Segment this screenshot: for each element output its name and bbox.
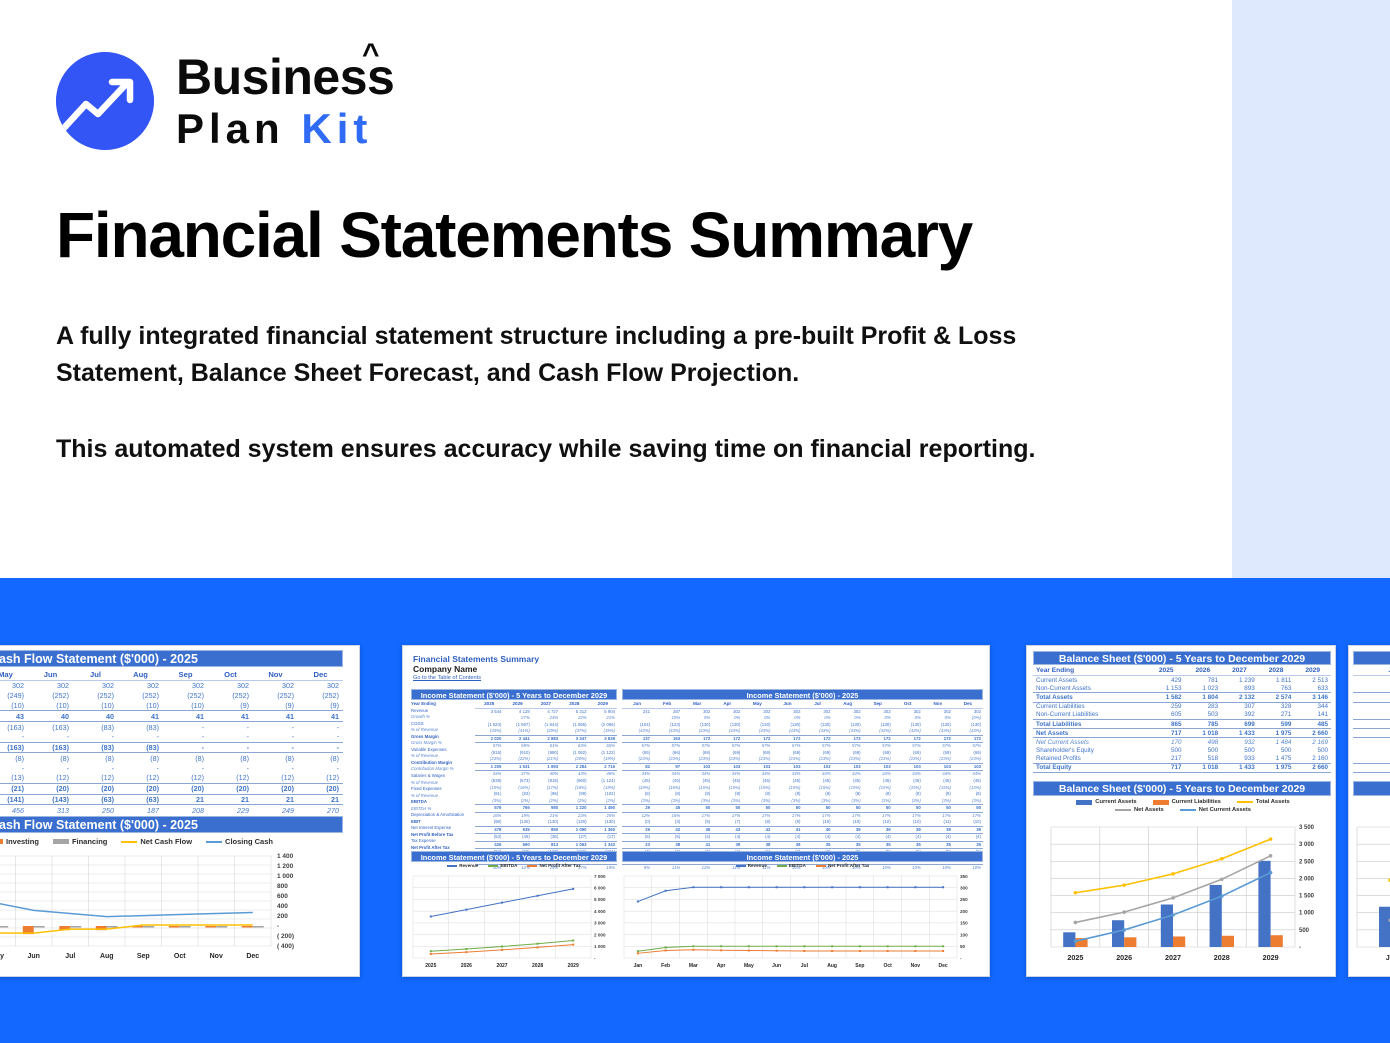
table-row: 1 081 [1353, 738, 1390, 747]
table-row: 512 [1353, 763, 1390, 772]
svg-text:-: - [277, 923, 279, 930]
svg-text:Oct: Oct [883, 963, 892, 969]
brand-name-kit: Kit [301, 105, 372, 152]
legend-item: Investing [0, 837, 39, 846]
summary-sheet-title: Financial Statements Summary [413, 654, 539, 664]
hero-side-panel [1232, 0, 1390, 578]
table-row: (13)(12)(12)(12)(12)(12)(12)(12) [0, 773, 343, 783]
table-row: Total Equity7171 0181 4331 9752 660 [1033, 763, 1331, 772]
svg-text:3 000: 3 000 [594, 921, 606, 926]
legend-item: Current Liabilities [1153, 799, 1221, 805]
income-year-col-2026: 2026 [503, 701, 531, 708]
table-row: 12%16%17%17%17%17%17%17%17%17%17%17% [622, 812, 983, 819]
cashflow-col-jun: Jun [28, 669, 73, 681]
balance-partial-chart: Jan [1353, 821, 1390, 969]
svg-text:May: May [0, 953, 4, 960]
balance-row-label: Total Equity [1033, 763, 1148, 772]
income-year-col-2029: 2029 [589, 701, 617, 708]
table-row: 512 [1353, 729, 1390, 738]
balance-year-col-2028: 2028 [1258, 666, 1295, 676]
balance-row-label: Total Assets [1033, 693, 1148, 702]
table-row: Total Liabilities865785699599485 [1033, 719, 1331, 728]
svg-text:7 000: 7 000 [594, 874, 606, 879]
table-row: Net Current Assets1704989321 4842 169 [1033, 738, 1331, 747]
brand-caret-accent: ^ [362, 40, 379, 70]
svg-text:3 000: 3 000 [1299, 842, 1315, 848]
table-row: 12 [1353, 755, 1390, 764]
legend-swatch [1076, 800, 1092, 805]
legend-swatch [1153, 800, 1169, 805]
balance-partial-col-header: Jan [1353, 666, 1390, 676]
table-row: 2 0202 4412 8833 3473 838 [475, 735, 617, 743]
svg-text:200: 200 [960, 909, 968, 914]
hero-paragraph-2: This automated system ensures accuracy w… [56, 431, 1146, 468]
growth-arrow-circle-icon [56, 52, 154, 150]
balance-sheet-screenshot-card[interactable]: Balance Sheet ($'000) - 5 Years to Decem… [1026, 645, 1336, 977]
slide-page: Business^ Plan Kit Financial Statements … [0, 0, 1390, 1043]
table-row: 1 174 [1353, 676, 1390, 685]
table-row: Shareholder's Equity500500500500500 [1033, 747, 1331, 755]
svg-text:1 400: 1 400 [277, 853, 294, 860]
svg-text:6 000: 6 000 [594, 886, 606, 891]
svg-text:Dec: Dec [939, 963, 948, 969]
table-row: (23%)(23%)(23%)(23%)(23%)(23%)(23%)(23%)… [622, 756, 983, 763]
svg-text:1 500: 1 500 [1299, 894, 1315, 900]
table-row: (23%)(22%)(21%)(20%)(19%) [475, 756, 617, 763]
table-row: (10)(10)(10)(10)(10)(9)(9)(9) [0, 701, 343, 711]
balance-row-label: Retained Profits [1033, 755, 1148, 764]
legend-item: EBITDA [777, 863, 806, 868]
table-row: Retained Profits2175189331 4752 160 [1033, 755, 1331, 764]
svg-text:2027: 2027 [1165, 953, 1181, 962]
table-row: -------- [0, 763, 343, 773]
svg-text:( 200): ( 200) [277, 933, 294, 940]
legend-swatch [1115, 809, 1131, 811]
svg-text:Jul: Jul [801, 963, 809, 969]
balance-row-label: Non-Current Assets [1033, 684, 1148, 693]
table-row: Total Assets1 5821 8042 1322 5743 146 [1033, 693, 1331, 702]
balance-table-title: Balance Sheet ($'000) - 5 Years to Decem… [1033, 651, 1331, 665]
legend-item: EBITDA [488, 863, 517, 868]
balance-row-label: Current Assets [1033, 676, 1148, 685]
income-month-col-dec: Dec [953, 701, 983, 708]
balance-sheet-partial-card[interactable]: Jan1 1741241 297936927865121 08150012512… [1348, 645, 1390, 977]
balance-row-label: Net Assets [1033, 729, 1148, 738]
svg-text:Aug: Aug [100, 953, 114, 960]
svg-text:1 000: 1 000 [594, 944, 606, 949]
summary-company-name: Company Name [413, 664, 477, 674]
balance-chart-title: Balance Sheet ($'000) - 5 Years to Decem… [1033, 781, 1331, 796]
svg-text:800: 800 [277, 883, 288, 890]
cashflow-col-nov: Nov [253, 669, 298, 681]
table-row: 57%57%57%57%57%57%57%57%57%57%57%57% [622, 743, 983, 750]
svg-text:Nov: Nov [210, 953, 223, 960]
balance-partial-chart-title [1353, 781, 1390, 796]
income-5y-chart-title: Income Statement ($'000) - 5 Years to De… [411, 851, 617, 862]
table-row: 1 2051 5311 8932 2842 716 [475, 763, 617, 771]
table-row: 16%19%21%23%25% [475, 812, 617, 819]
legend-item: Net Profit After Tax [527, 863, 580, 868]
legend-swatch [527, 865, 537, 867]
table-row: 137163172172172172172172172172172172 [622, 735, 983, 743]
balance-row-label: Current Liabilities [1033, 702, 1148, 711]
income-5y-table: 202520262027202820293 5444 1284 7275 312… [475, 701, 617, 871]
income-monthly-table: JanFebMarAprMayJunJulAugSepOctNovDec2412… [622, 701, 983, 871]
svg-text:Sep: Sep [855, 963, 864, 969]
legend-swatch [736, 865, 746, 867]
legend-swatch [206, 841, 222, 843]
income-monthly-chart-legend: RevenueEBITDANet Profit After Tax [622, 863, 983, 868]
table-row: (8)(8)(8)(8)(8)(8)(8)(8) [0, 753, 343, 763]
balance-header-label: Year Ending [1033, 666, 1148, 676]
table-row: (43%)(43%)(43%)(43%)(43%)(43%)(43%)(43%)… [622, 728, 983, 735]
svg-text:-: - [594, 956, 596, 961]
svg-text:2025: 2025 [425, 963, 436, 969]
svg-text:4 000: 4 000 [594, 909, 606, 914]
brand-name-plan: Plan [176, 105, 285, 152]
income-5y-chart-legend: RevenueEBITDANet Profit After Tax [411, 863, 617, 868]
income-monthly-title: Income Statement ($'000) - 2025 [622, 689, 983, 700]
svg-text:2 500: 2 500 [1299, 859, 1315, 865]
cashflow-table-title: Cash Flow Statement ($'000) - 2025 [0, 650, 343, 667]
table-row: Current Assets4297811 2391 8112 513 [1033, 676, 1331, 685]
table-row: (163)(163)(83)(83)---- [0, 742, 343, 753]
svg-text:-: - [1299, 945, 1301, 951]
legend-item: Revenue [447, 863, 478, 868]
table-row: 692 [1353, 711, 1390, 720]
table-row: 233841393836353535353535 [622, 841, 983, 849]
cashflow-col-may: May [0, 669, 28, 681]
table-row: 57%59%61%63%65% [475, 743, 617, 750]
table-row: 294245434241403939393939 [622, 826, 983, 834]
svg-text:2 000: 2 000 [1299, 876, 1315, 882]
svg-text:( 400): ( 400) [277, 943, 294, 950]
table-row: (0)(3)(5)(7)(8)(9)(10)(10)(10)(10)(11)(1… [622, 819, 983, 826]
income-month-col-jul: Jul [802, 701, 832, 708]
table-row: 1 297 [1353, 693, 1390, 702]
svg-text:Jan: Jan [1386, 953, 1390, 962]
svg-text:200: 200 [277, 913, 288, 920]
table-row: 34%37%40%43%46% [475, 771, 617, 778]
table-row: 4265908131 0631 343 [475, 841, 617, 849]
legend-item: Current Assets [1076, 799, 1136, 805]
svg-text:2026: 2026 [1116, 953, 1132, 962]
income-year-col-2028: 2028 [560, 701, 588, 708]
legend-swatch [121, 841, 137, 843]
svg-text:2025: 2025 [1067, 953, 1083, 962]
table-row: Net Assets7171 0181 4331 9752 660 [1033, 729, 1331, 738]
income-year-col-2025: 2025 [475, 701, 503, 708]
table-row: 124 [1353, 684, 1390, 693]
table-row: 3 5444 1284 7275 3125 904 [475, 708, 617, 715]
table-row: (43%)(41%)(39%)(37%)(35%) [475, 728, 617, 735]
balance-year-col-2025: 2025 [1148, 666, 1185, 676]
table-row: (53)(45)(36)(27)(17) [475, 834, 617, 842]
income-month-col-aug: Aug [833, 701, 863, 708]
legend-swatch [488, 865, 498, 867]
cashflow-col-jul: Jul [73, 669, 118, 681]
income-month-col-feb: Feb [652, 701, 682, 708]
income-month-col-sep: Sep [863, 701, 893, 708]
income-month-col-may: May [742, 701, 772, 708]
balance-row-label: Shareholder's Equity [1033, 747, 1148, 755]
svg-text:May: May [744, 963, 754, 969]
cashflow-screenshot-card[interactable]: Cash Flow Statement ($'000) - 2025 MayJu… [0, 645, 360, 977]
table-row: 241287302302302302302302302302302302 [622, 708, 983, 715]
svg-text:50: 50 [960, 944, 966, 949]
legend-item: Total Assets [1237, 799, 1290, 805]
hero-paragraph-1: A fully integrated financial statement s… [56, 318, 1146, 391]
balance-chart: 3 5003 0002 5002 0001 5001 000500-202520… [1033, 821, 1331, 969]
table-row: 4786358501 0901 360 [475, 826, 617, 834]
balance-row-label: Non-Current Liabilities [1033, 711, 1148, 720]
svg-text:Nov: Nov [911, 963, 921, 969]
hero-section: Business^ Plan Kit Financial Statements … [0, 0, 1390, 578]
table-row: 786 [1353, 719, 1390, 728]
svg-text:100: 100 [960, 932, 968, 937]
svg-text:Apr: Apr [717, 963, 726, 969]
svg-text:600: 600 [277, 893, 288, 900]
legend-item: Net Cash Flow [121, 837, 192, 846]
cashflow-table: MayJunJulAugSepOctNovDec3023023023023023… [0, 669, 343, 815]
income-month-col-mar: Mar [682, 701, 712, 708]
svg-text:5 000: 5 000 [594, 897, 606, 902]
svg-text:Jul: Jul [65, 953, 75, 960]
svg-text:Aug: Aug [827, 963, 837, 969]
income-month-col-jan: Jan [622, 701, 652, 708]
svg-text:3 500: 3 500 [1299, 825, 1315, 831]
legend-item: Revenue [736, 863, 767, 868]
cashflow-col-sep: Sep [163, 669, 208, 681]
table-of-contents-link[interactable]: Go to the Table of Contents [413, 675, 481, 681]
cashflow-col-oct: Oct [208, 669, 253, 681]
income-5y-title: Income Statement ($'000) - 5 Years to De… [411, 689, 617, 700]
legend-swatch [1237, 801, 1253, 803]
balance-chart-legend: Current AssetsCurrent LiabilitiesTotal A… [1037, 799, 1329, 815]
income-monthly-chart-title: Income Statement ($'000) - 2025 [622, 851, 983, 862]
legend-swatch [0, 839, 3, 844]
svg-text:1 000: 1 000 [1299, 911, 1315, 917]
cashflow-col-dec: Dec [298, 669, 343, 681]
table-row: 456313250187208229249270 [0, 805, 343, 815]
svg-text:-: - [960, 956, 962, 961]
table-row: 93 [1353, 702, 1390, 711]
table-row: (163)(163)(83)(83)---- [0, 722, 343, 732]
page-title: Financial Statements Summary [56, 202, 972, 269]
legend-item: Net Current Assets [1180, 807, 1251, 813]
svg-text:500: 500 [1299, 928, 1310, 934]
svg-text:2028: 2028 [532, 963, 543, 969]
cashflow-chart-legend: InvestingFinancingNet Cash FlowClosing C… [0, 837, 273, 846]
income-month-col-oct: Oct [893, 701, 923, 708]
svg-text:Oct: Oct [174, 953, 186, 960]
table-row: 294550505050505050505050 [622, 805, 983, 813]
income-month-col-apr: Apr [712, 701, 742, 708]
legend-swatch [777, 865, 787, 867]
svg-text:2026: 2026 [461, 963, 472, 969]
table-row: (3%)(2%)(2%)(2%)(2%) [475, 798, 617, 805]
legend-item: Net Assets [1115, 807, 1164, 813]
table-row: 5767659801 2201 490 [475, 805, 617, 813]
income-row-labels: Year EndingRevenueGrowth %COGS% of Reven… [411, 701, 477, 858]
table-row: 8297103103103103103103103103103103 [622, 763, 983, 771]
income-month-col-jun: Jun [772, 701, 802, 708]
cashflow-chart: 1 4001 2001 000800600400200-( 200)( 400)… [0, 850, 343, 970]
legend-item: Financing [53, 837, 107, 846]
table-row: (21)(20)(20)(20)(20)(20)(20)(20) [0, 783, 343, 794]
income-monthly-chart: 35030025020015010050-JanFebMarAprMayJunJ… [622, 872, 983, 972]
svg-text:Sep: Sep [137, 953, 150, 960]
table-row: 500 [1353, 747, 1390, 755]
svg-text:250: 250 [960, 897, 968, 902]
svg-text:1 000: 1 000 [277, 873, 294, 880]
table-row: 34%34%34%34%34%34%34%34%34%34%34%34% [622, 771, 983, 778]
svg-text:300: 300 [960, 886, 968, 891]
legend-swatch [53, 839, 69, 844]
legend-swatch [816, 865, 826, 867]
svg-text:2029: 2029 [568, 963, 579, 969]
table-row: (249)(252)(252)(252)(252)(252)(252)(252) [0, 691, 343, 701]
table-row: Non-Current Assets1 1531 023893763633 [1033, 684, 1331, 693]
legend-item: Net Profit After Tax [816, 863, 869, 868]
svg-text:350: 350 [960, 874, 968, 879]
cashflow-chart-title: Cash Flow Statement ($'000) - 2025 [0, 816, 343, 833]
svg-text:2 000: 2 000 [594, 932, 606, 937]
brand-name-line2: Plan Kit [176, 108, 394, 150]
svg-text:Jan: Jan [634, 963, 643, 969]
svg-text:150: 150 [960, 921, 968, 926]
balance-table: Year Ending20252026202720282029Current A… [1033, 666, 1331, 773]
balance-row-label: Net Current Assets [1033, 738, 1148, 747]
income-5y-chart: 7 0006 0005 0004 0003 0002 0001 000-2025… [411, 872, 617, 972]
income-year-col-2027: 2027 [532, 701, 560, 708]
table-row: Non-Current Liabilities605503392271141 [1033, 711, 1331, 720]
svg-text:2028: 2028 [1214, 953, 1230, 962]
svg-text:Feb: Feb [661, 963, 670, 969]
balance-year-col-2027: 2027 [1221, 666, 1258, 676]
svg-text:Dec: Dec [246, 953, 259, 960]
balance-row-label: Total Liabilities [1033, 719, 1148, 728]
table-row: 4340404141414141 [0, 711, 343, 722]
table-row: Current Liabilities259283307328344 [1033, 702, 1331, 711]
brand-name-line1: Business^ [176, 52, 394, 102]
brand-logo: Business^ Plan Kit [56, 52, 394, 150]
svg-text:1 200: 1 200 [277, 863, 294, 870]
balance-year-col-2029: 2029 [1294, 666, 1331, 676]
balance-partial-title [1353, 651, 1390, 665]
legend-swatch [1180, 809, 1196, 811]
table-row: 302302302302302302302302 [0, 681, 343, 691]
svg-text:Jun: Jun [28, 953, 40, 960]
svg-text:Jun: Jun [772, 963, 781, 969]
balance-year-col-2026: 2026 [1185, 666, 1222, 676]
table-row: (141)(143)(63)(63)21212121 [0, 794, 343, 805]
cashflow-col-aug: Aug [118, 669, 163, 681]
table-row: -------- [0, 732, 343, 742]
legend-item: Closing Cash [206, 837, 273, 846]
income-month-col-nov: Nov [923, 701, 953, 708]
legend-swatch [447, 865, 457, 867]
svg-text:400: 400 [277, 903, 288, 910]
table-row: (3%)(3%)(3%)(3%)(3%)(3%)(3%)(3%)(3%)(3%)… [622, 798, 983, 805]
table-row: (5)(5)(4)(4)(4)(4)(4)(4)(4)(4)(4)(4) [622, 834, 983, 842]
summary-screenshot-card[interactable]: Financial Statements Summary Company Nam… [402, 645, 990, 977]
table-row: (98)(130)(130)(130)(130) [475, 819, 617, 826]
svg-text:2029: 2029 [1263, 953, 1279, 962]
balance-partial-table: Jan1 1741241 297936927865121 08150012512 [1353, 666, 1390, 773]
svg-text:2027: 2027 [496, 963, 507, 969]
svg-text:Mar: Mar [689, 963, 698, 969]
